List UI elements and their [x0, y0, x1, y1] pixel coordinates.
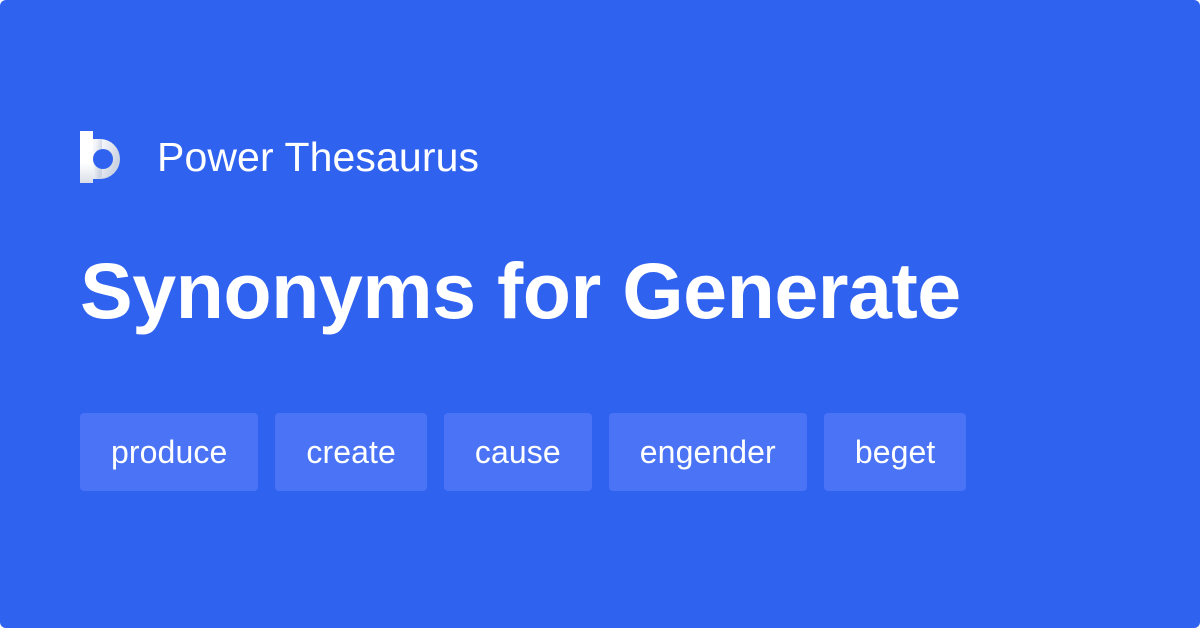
synonym-chip[interactable]: cause [444, 413, 592, 491]
page-title: Synonyms for Generate [80, 248, 1120, 333]
synonym-chip-list: produce create cause engender beget [80, 413, 966, 491]
power-thesaurus-b-logo-icon [80, 131, 126, 183]
og-share-card: Power Thesaurus Synonyms for Generate pr… [0, 0, 1200, 628]
synonym-chip[interactable]: engender [609, 413, 807, 491]
brand-lockup[interactable]: Power Thesaurus [80, 126, 479, 188]
synonym-chip[interactable]: produce [80, 413, 258, 491]
brand-name: Power Thesaurus [157, 137, 479, 178]
synonym-chip[interactable]: beget [824, 413, 967, 491]
synonym-chip[interactable]: create [275, 413, 427, 491]
